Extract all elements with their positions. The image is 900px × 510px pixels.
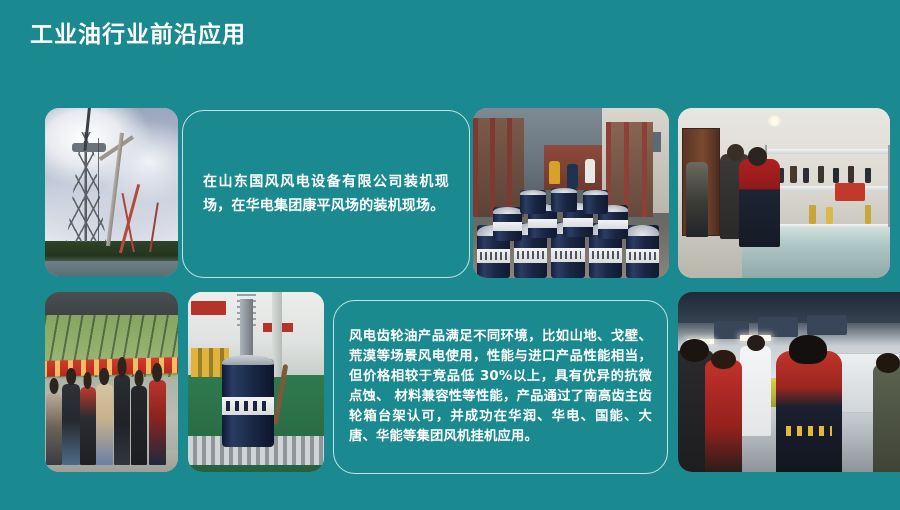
- person-figure: [114, 375, 130, 465]
- photo-drum-filling-line: [188, 292, 324, 472]
- product-bottle: [833, 168, 839, 183]
- oil-sample-bottle: [809, 205, 815, 224]
- person-figure: [80, 387, 96, 464]
- head: [711, 350, 735, 370]
- oil-drum: [583, 190, 608, 214]
- lab-scene: [678, 292, 900, 472]
- oil-sample-bottle: [826, 207, 832, 224]
- display-shelf: [767, 149, 888, 154]
- roof-edge: [45, 292, 178, 317]
- slide-canvas: 工业油行业前沿应用: [0, 0, 900, 510]
- staff-figure-red-jacket: [739, 159, 779, 247]
- showroom-scene: [678, 108, 890, 278]
- staff-figure-branded-jacket: [776, 351, 843, 472]
- person-figure: [131, 386, 147, 465]
- person-figure: [96, 384, 113, 465]
- wall-panel: [807, 315, 847, 335]
- photo-product-showroom: [678, 108, 890, 278]
- visitor-figure-red-coat: [705, 360, 743, 472]
- photo-oil-drums-on-truck: [473, 108, 669, 278]
- support-column: [272, 292, 282, 377]
- photo-wind-turbine-erection: [45, 108, 178, 276]
- head: [747, 335, 765, 351]
- page-title: 工业油行业前沿应用: [30, 22, 246, 50]
- product-bottle: [848, 166, 854, 183]
- nacelle: [72, 143, 107, 151]
- oil-drum: [520, 190, 545, 214]
- callout-installation-sites-text: 在山东国风风电设备有限公司装机现场，在华电集团康平风场的装机现场。: [183, 170, 469, 219]
- technician-white-coat: [740, 346, 771, 436]
- red-banner-sign: [191, 301, 226, 315]
- person-figure: [149, 380, 166, 465]
- oil-drum-being-filled: [222, 359, 274, 447]
- group-photo-scene: [45, 292, 178, 472]
- oil-sample-bottle: [865, 205, 871, 224]
- oil-drum: [493, 207, 522, 241]
- head: [680, 339, 709, 362]
- red-display-box: [835, 183, 865, 202]
- wall-panel: [758, 317, 798, 337]
- photo-laboratory-visit: [678, 292, 900, 472]
- product-bottle: [803, 168, 809, 183]
- product-bottle: [790, 166, 796, 183]
- callout-product-performance-text: 风电齿轮油产品满足不同环境，比如山地、戈壁、荒漠等场景风电使用，性能与进口产品性…: [334, 327, 667, 447]
- water-layer: [45, 261, 178, 276]
- head: [789, 335, 827, 364]
- oil-drum: [626, 225, 659, 278]
- visitor-figure-right: [873, 364, 900, 472]
- callout-product-performance: 风电齿轮油产品满足不同环境，比如山地、戈壁、荒漠等场景风电使用，性能与进口产品性…: [333, 300, 668, 474]
- drum-stack: [473, 179, 669, 278]
- turbine-scene: [45, 108, 178, 276]
- filling-scene: [188, 292, 324, 472]
- callout-installation-sites: 在山东国风风电设备有限公司装机现场，在华电集团康平风场的装机现场。: [182, 110, 470, 278]
- ceiling-lamp: [767, 115, 782, 127]
- display-shelf: [767, 186, 888, 191]
- drums-scene: [473, 108, 669, 278]
- crane-cable: [98, 138, 99, 242]
- head: [727, 144, 744, 161]
- person-figure: [46, 393, 62, 465]
- person-figure: [62, 384, 79, 465]
- head: [748, 147, 767, 166]
- product-bottle: [865, 168, 871, 183]
- product-bottle: [818, 166, 824, 183]
- oil-drum: [551, 188, 576, 212]
- photo-factory-group: [45, 292, 178, 472]
- head: [876, 353, 900, 373]
- visitor-figure: [686, 162, 707, 237]
